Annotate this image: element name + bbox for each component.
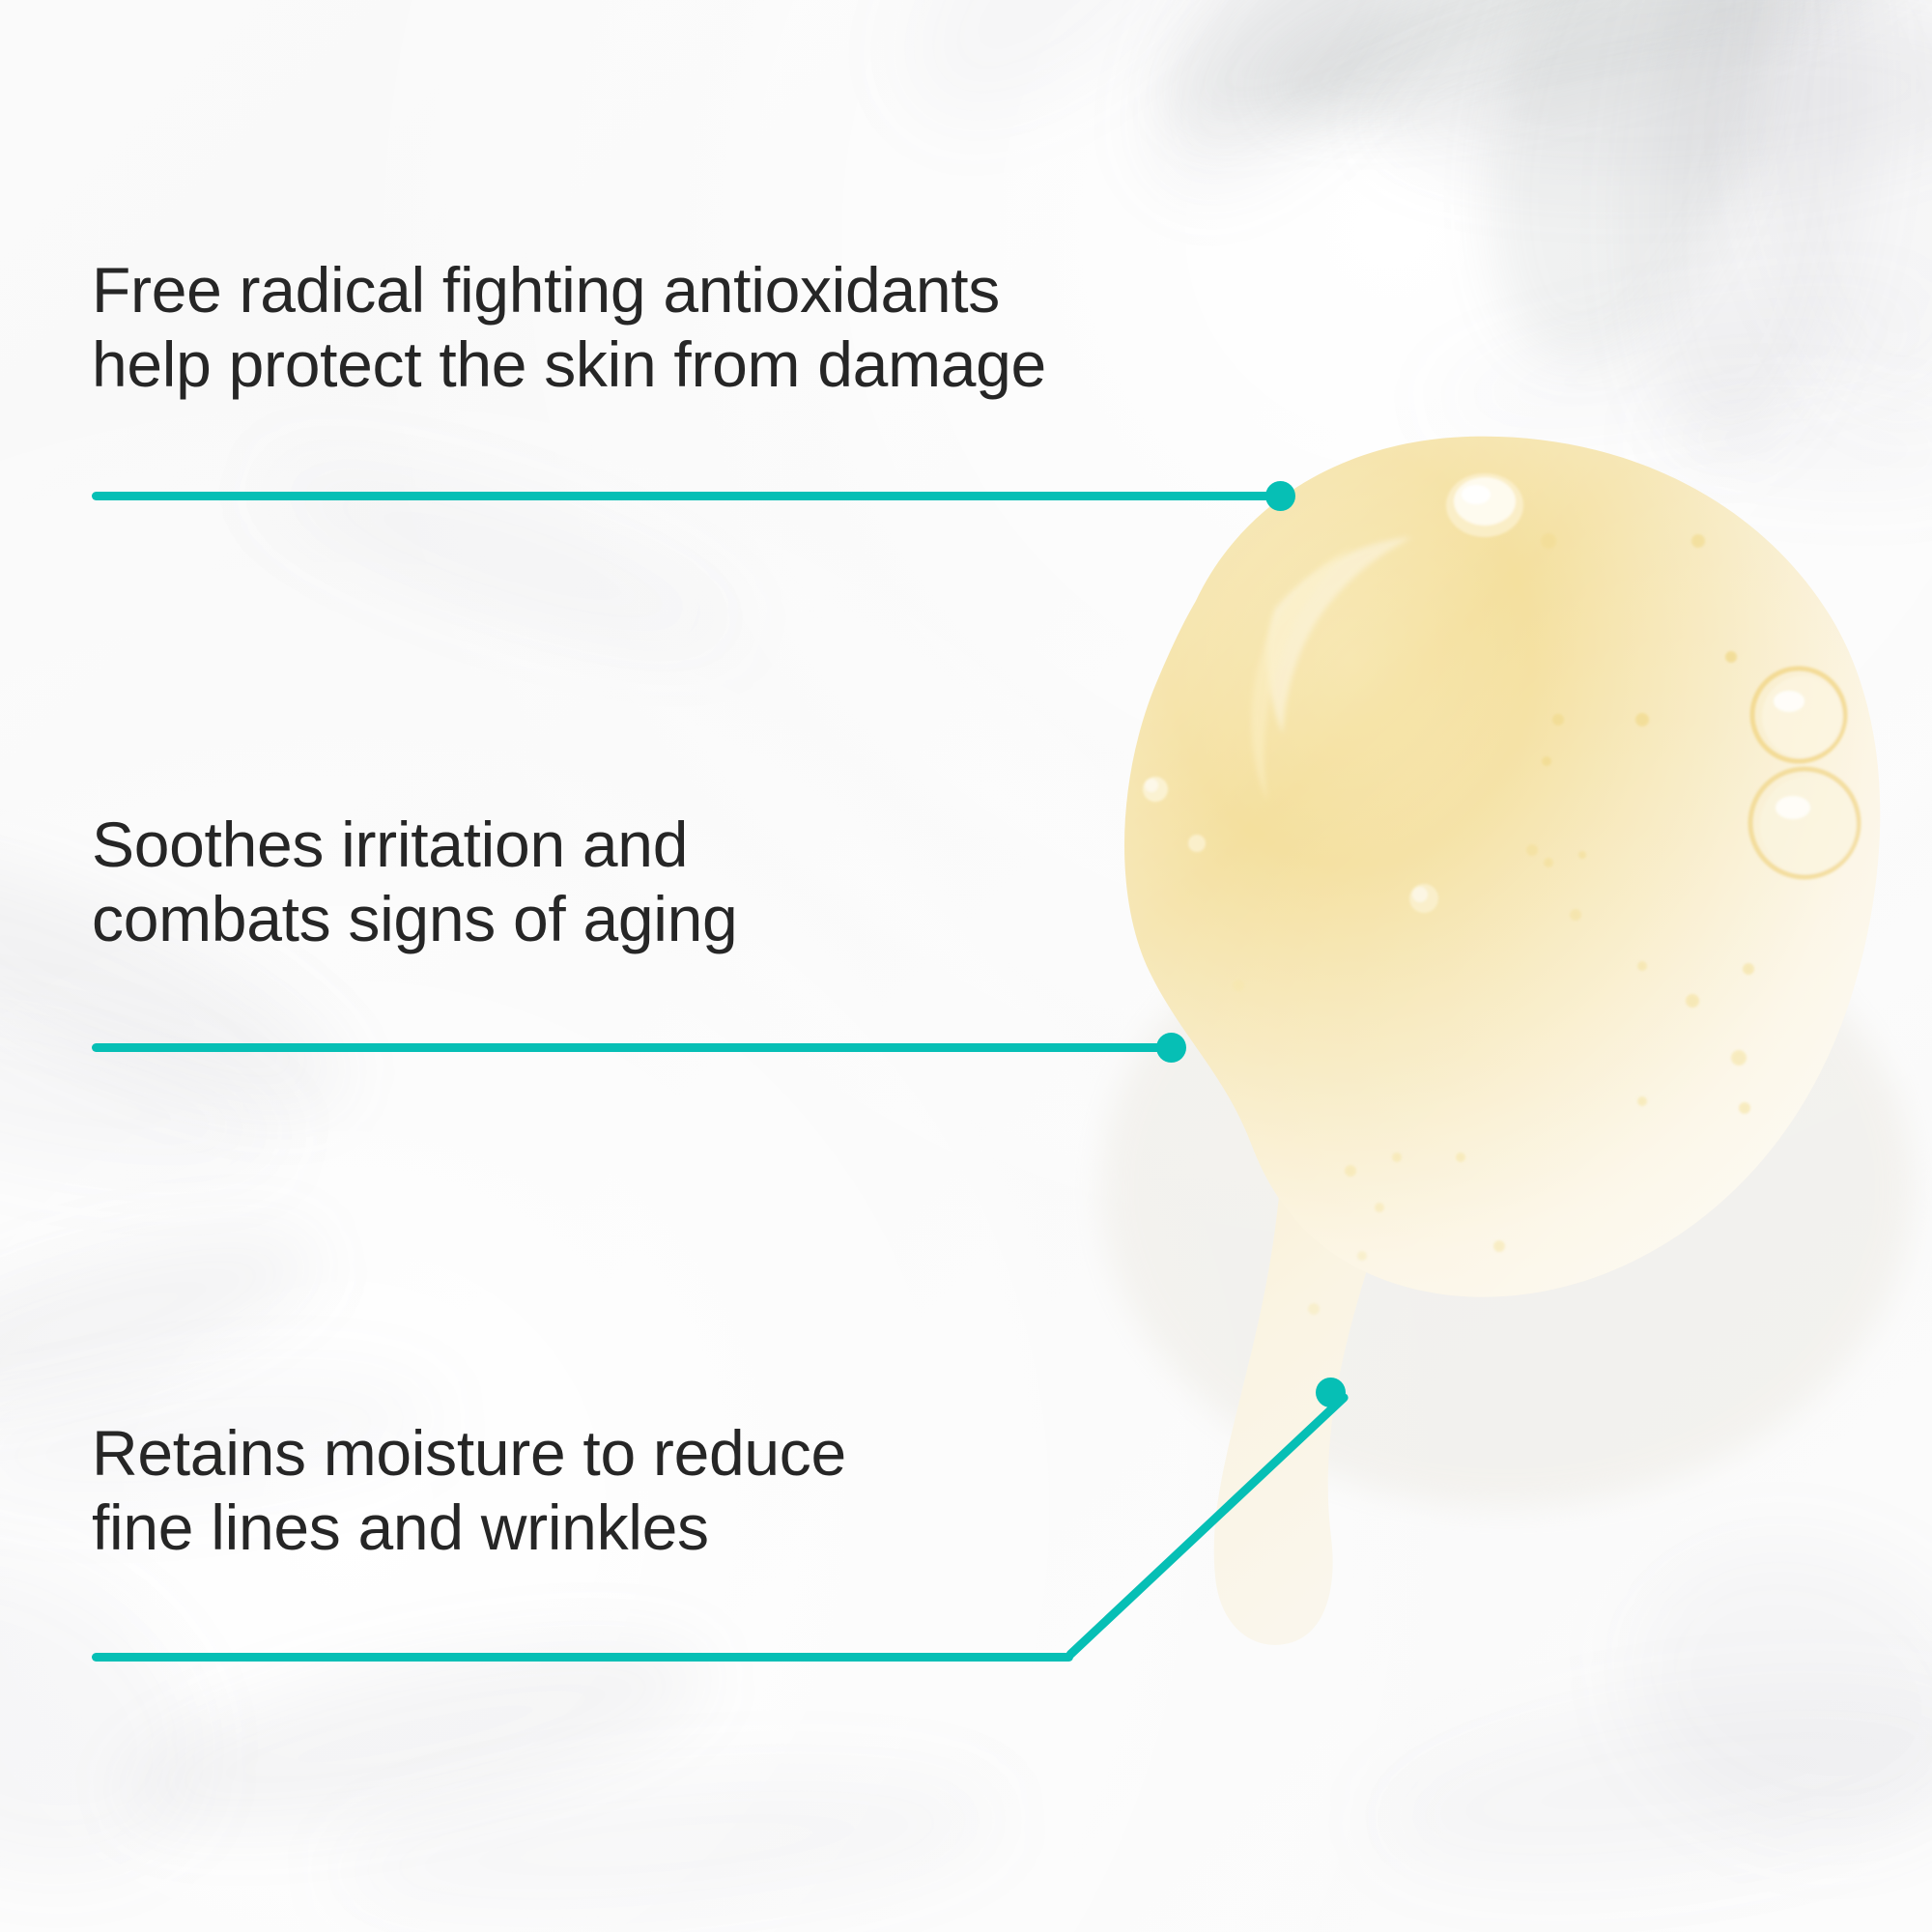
benefit-text-antioxidants: Free radical fighting antioxidants help … [92, 253, 1046, 402]
benefit-text-soothing: Soothes irritation and combats signs of … [92, 808, 737, 956]
connector-endpoint-dot-antioxidants [1265, 481, 1295, 511]
benefit-text-moisture: Retains moisture to reduce fine lines an… [92, 1416, 846, 1565]
connector-line-antioxidants-stroke [92, 492, 1282, 500]
connector-endpoint-dot-soothing [1156, 1033, 1186, 1063]
product-benefits-graphic: Free radical fighting antioxidants help … [0, 0, 1932, 1932]
connector-line-soothing-stroke [92, 1043, 1175, 1052]
connector-line-moisture-horizontal [92, 1653, 1073, 1662]
connector-endpoint-dot-moisture [1316, 1378, 1346, 1407]
